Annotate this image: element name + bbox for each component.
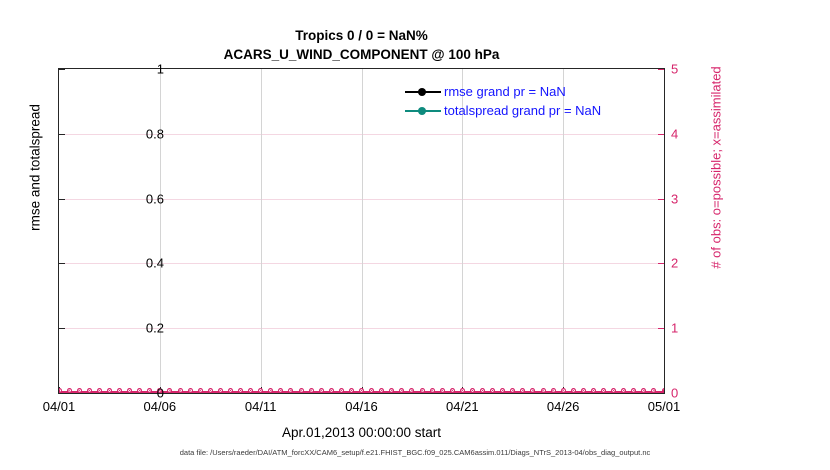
x-tick-label: 04/21 xyxy=(422,399,502,414)
obs-assimilated-marker: × xyxy=(530,389,536,393)
obs-possible-marker xyxy=(571,388,576,393)
obs-assimilated-marker: × xyxy=(480,389,486,393)
x-tick xyxy=(261,387,262,393)
obs-assimilated-marker: × xyxy=(631,389,637,393)
vertical-gridline xyxy=(261,69,262,393)
obs-possible-marker xyxy=(530,388,535,393)
y-tick-label-left: 0.6 xyxy=(64,191,164,206)
x-tick-label: 04/11 xyxy=(221,399,301,414)
legend-swatch-icon xyxy=(405,86,441,98)
obs-assimilated-marker: × xyxy=(248,389,254,393)
obs-possible-marker xyxy=(520,388,525,393)
obs-assimilated-marker: × xyxy=(318,389,324,393)
y-tick-right xyxy=(658,263,664,264)
obs-possible-marker xyxy=(319,388,324,393)
obs-line-left-endcap xyxy=(59,389,60,393)
y-tick-label-left: 0.2 xyxy=(64,321,164,336)
x-axis-label: Apr.01,2013 00:00:00 start xyxy=(58,425,665,440)
legend-item[interactable]: rmse grand pr = NaN xyxy=(405,82,655,101)
obs-possible-marker xyxy=(268,388,273,393)
y-tick-right xyxy=(658,69,664,70)
obs-possible-marker xyxy=(591,388,596,393)
y-tick-label-left: 0.8 xyxy=(64,126,164,141)
obs-assimilated-marker: × xyxy=(419,389,425,393)
y-tick-label-left: 0.4 xyxy=(64,256,164,271)
obs-possible-marker xyxy=(238,388,243,393)
obs-assimilated-marker: × xyxy=(379,389,385,393)
obs-possible-marker xyxy=(611,388,616,393)
obs-possible-marker xyxy=(450,388,455,393)
obs-assimilated-marker: × xyxy=(601,389,607,393)
obs-possible-marker xyxy=(188,388,193,393)
x-tick-label: 04/26 xyxy=(523,399,603,414)
obs-assimilated-marker: × xyxy=(641,389,647,393)
y-tick-right xyxy=(658,199,664,200)
y-tick-label-right: 2 xyxy=(671,256,711,271)
obs-possible-marker xyxy=(420,388,425,393)
x-tick-label: 05/01 xyxy=(624,399,704,414)
y-tick-label-right: 3 xyxy=(671,191,711,206)
obs-assimilated-marker: × xyxy=(389,389,395,393)
obs-assimilated-marker: × xyxy=(328,389,334,393)
obs-assimilated-marker: × xyxy=(348,389,354,393)
obs-possible-marker xyxy=(621,388,626,393)
obs-assimilated-marker: × xyxy=(540,389,546,393)
obs-possible-marker xyxy=(601,388,606,393)
legend-marker-dot-icon xyxy=(418,88,426,96)
y-axis-label-left: rmse and totalspread xyxy=(28,28,43,308)
obs-assimilated-marker: × xyxy=(590,389,596,393)
chart-legend: rmse grand pr = NaNtotalspread grand pr … xyxy=(405,82,655,120)
obs-assimilated-marker: × xyxy=(429,389,435,393)
obs-assimilated-marker: × xyxy=(510,389,516,393)
chart-title: Tropics 0 / 0 = NaN% xyxy=(58,26,665,45)
x-tick-label: 04/01 xyxy=(19,399,99,414)
obs-possible-marker xyxy=(379,388,384,393)
obs-assimilated-marker: × xyxy=(580,389,586,393)
obs-possible-marker xyxy=(198,388,203,393)
x-tick-label: 04/16 xyxy=(322,399,402,414)
obs-possible-marker xyxy=(329,388,334,393)
y-tick-right xyxy=(658,328,664,329)
obs-assimilated-marker: × xyxy=(621,389,627,393)
obs-assimilated-marker: × xyxy=(611,389,617,393)
obs-assimilated-marker: × xyxy=(167,389,173,393)
obs-assimilated-marker: × xyxy=(298,389,304,393)
obs-line-right-endcap xyxy=(663,389,664,393)
obs-possible-marker xyxy=(178,388,183,393)
y-tick-label-right: 1 xyxy=(671,321,711,336)
obs-possible-marker xyxy=(409,388,414,393)
obs-assimilated-marker: × xyxy=(338,389,344,393)
obs-possible-marker xyxy=(228,388,233,393)
obs-assimilated-marker: × xyxy=(520,389,526,393)
obs-assimilated-marker: × xyxy=(187,389,193,393)
obs-possible-marker xyxy=(208,388,213,393)
obs-possible-marker xyxy=(309,388,314,393)
x-tick-label: 04/06 xyxy=(120,399,200,414)
obs-possible-marker xyxy=(218,388,223,393)
obs-assimilated-marker: × xyxy=(268,389,274,393)
obs-possible-marker xyxy=(369,388,374,393)
y-axis-label-right: # of obs: o=possible; x=assimilated xyxy=(709,8,724,328)
obs-assimilated-marker: × xyxy=(217,389,223,393)
obs-assimilated-marker: × xyxy=(288,389,294,393)
obs-possible-marker xyxy=(430,388,435,393)
obs-assimilated-marker: × xyxy=(500,389,506,393)
obs-possible-marker xyxy=(440,388,445,393)
obs-possible-marker xyxy=(631,388,636,393)
obs-assimilated-marker: × xyxy=(308,389,314,393)
x-tick xyxy=(362,387,363,393)
obs-assimilated-marker: × xyxy=(550,389,556,393)
chart-figure: Tropics 0 / 0 = NaN% ACARS_U_WIND_COMPON… xyxy=(0,0,830,470)
y-tick-label-right: 4 xyxy=(671,126,711,141)
obs-assimilated-marker: × xyxy=(369,389,375,393)
obs-assimilated-marker: × xyxy=(449,389,455,393)
y-tick-right xyxy=(658,134,664,135)
y-tick-label-left: 1 xyxy=(64,62,164,77)
obs-possible-marker xyxy=(399,388,404,393)
data-file-note: data file: /Users/raeder/DAI/ATM_forcXX/… xyxy=(0,448,830,457)
x-tick xyxy=(462,387,463,393)
legend-label: totalspread grand pr = NaN xyxy=(444,103,601,118)
obs-possible-marker xyxy=(490,388,495,393)
x-tick xyxy=(563,387,564,393)
legend-swatch-icon xyxy=(405,105,441,117)
legend-marker-dot-icon xyxy=(418,107,426,115)
obs-possible-marker xyxy=(389,388,394,393)
obs-possible-marker xyxy=(551,388,556,393)
chart-title-block: Tropics 0 / 0 = NaN% ACARS_U_WIND_COMPON… xyxy=(58,26,665,64)
obs-assimilated-marker: × xyxy=(439,389,445,393)
obs-possible-marker xyxy=(339,388,344,393)
vertical-gridline xyxy=(362,69,363,393)
obs-assimilated-marker: × xyxy=(469,389,475,393)
obs-possible-marker xyxy=(480,388,485,393)
obs-possible-marker xyxy=(500,388,505,393)
obs-possible-marker xyxy=(167,388,172,393)
obs-possible-marker xyxy=(288,388,293,393)
obs-assimilated-marker: × xyxy=(278,389,284,393)
obs-assimilated-marker: × xyxy=(651,389,657,393)
obs-possible-marker xyxy=(278,388,283,393)
legend-label: rmse grand pr = NaN xyxy=(444,84,566,99)
obs-assimilated-marker: × xyxy=(207,389,213,393)
obs-possible-marker xyxy=(541,388,546,393)
obs-possible-marker xyxy=(248,388,253,393)
obs-assimilated-marker: × xyxy=(238,389,244,393)
vertical-gridline xyxy=(160,69,161,393)
obs-assimilated-marker: × xyxy=(399,389,405,393)
obs-assimilated-marker: × xyxy=(409,389,415,393)
obs-assimilated-marker: × xyxy=(177,389,183,393)
obs-possible-marker xyxy=(641,388,646,393)
obs-possible-marker xyxy=(470,388,475,393)
obs-possible-marker xyxy=(299,388,304,393)
y-tick-label-right: 5 xyxy=(671,62,711,77)
obs-possible-marker xyxy=(510,388,515,393)
obs-assimilated-marker: × xyxy=(570,389,576,393)
obs-assimilated-marker: × xyxy=(490,389,496,393)
obs-assimilated-marker: × xyxy=(227,389,233,393)
obs-possible-marker xyxy=(651,388,656,393)
obs-possible-marker xyxy=(349,388,354,393)
obs-assimilated-marker: × xyxy=(197,389,203,393)
legend-item[interactable]: totalspread grand pr = NaN xyxy=(405,101,655,120)
obs-possible-marker xyxy=(581,388,586,393)
